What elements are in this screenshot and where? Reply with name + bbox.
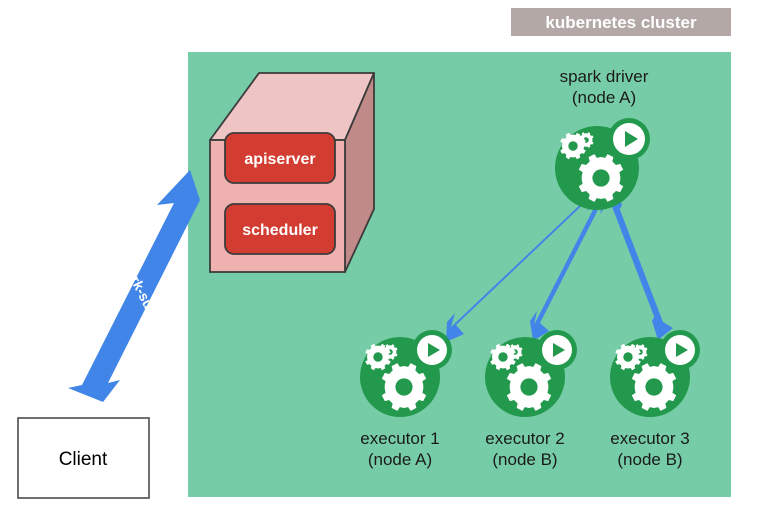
spark-on-kubernetes-diagram: kubernetes cluster spark-submit Client a… — [0, 0, 761, 516]
diagram-canvas: kubernetes cluster spark-submit Client a… — [0, 0, 761, 516]
spark-driver-subtitle: (node A) — [572, 88, 636, 107]
client-label: Client — [59, 449, 108, 470]
scheduler-label: scheduler — [242, 222, 318, 239]
executor-3-title: executor 3 — [610, 429, 689, 448]
executor-3-subtitle: (node B) — [617, 450, 682, 469]
spark-driver-title: spark driver — [560, 67, 649, 86]
executor-2-title: executor 2 — [485, 429, 564, 448]
scheduler-component: scheduler — [225, 204, 335, 254]
spark-submit-arrow: spark-submit — [68, 170, 200, 402]
apiserver-label: apiserver — [244, 151, 315, 168]
cluster-badge-label: kubernetes cluster — [545, 13, 697, 32]
executor-1-title: executor 1 — [360, 429, 439, 448]
executor-2-subtitle: (node B) — [492, 450, 557, 469]
apiserver-component: apiserver — [225, 133, 335, 183]
client-node: Client — [18, 418, 149, 498]
executor-1-subtitle: (node A) — [368, 450, 432, 469]
